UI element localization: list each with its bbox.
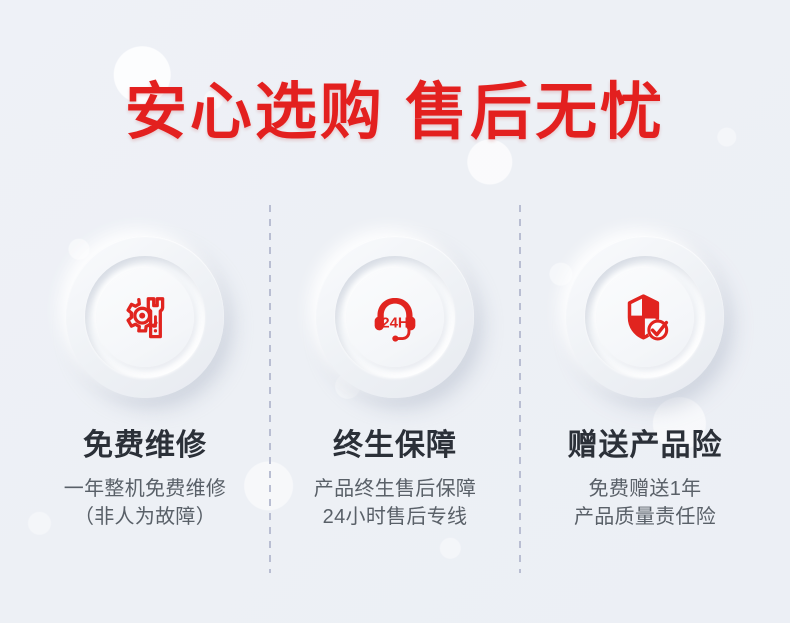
feature-description: 产品终生售后保障 24小时售后专线 bbox=[270, 475, 520, 532]
icon-badge-free-repair bbox=[66, 236, 224, 398]
feature-heading: 免费维修 bbox=[20, 429, 270, 462]
feature-description: 一年整机免费维修 （非人为故障） bbox=[20, 475, 270, 532]
badge-inner-ring bbox=[585, 256, 705, 378]
feature-line-2: 24小时售后专线 bbox=[270, 503, 520, 531]
badge-inner-ring: 24H bbox=[335, 256, 455, 378]
gear-wrench-icon bbox=[114, 287, 176, 349]
headset-24h-label: 24H bbox=[381, 314, 409, 331]
badge-inner-ring bbox=[85, 256, 205, 378]
promo-banner: 安心选购 售后无忧 bbox=[0, 0, 790, 623]
shield-check-icon bbox=[614, 287, 676, 349]
feature-card-product-insurance: 赠送产品险 免费赠送1年 产品质量责任险 bbox=[520, 236, 770, 532]
page-title: 安心选购 售后无忧 bbox=[0, 82, 790, 144]
feature-card-free-repair: 免费维修 一年整机免费维修 （非人为故障） bbox=[20, 236, 270, 532]
feature-line-2: （非人为故障） bbox=[20, 503, 270, 531]
feature-card-lifetime-support: 24H 终生保障 产品终生售后保障 24小时售后专线 bbox=[270, 236, 520, 532]
feature-description: 免费赠送1年 产品质量责任险 bbox=[520, 475, 770, 532]
feature-line-1: 产品终生售后保障 bbox=[270, 475, 520, 503]
icon-badge-lifetime-support: 24H bbox=[316, 236, 474, 398]
feature-line-1: 免费赠送1年 bbox=[520, 475, 770, 503]
icon-badge-product-insurance bbox=[566, 236, 724, 398]
badge-face: 24H bbox=[346, 268, 444, 367]
feature-line-1: 一年整机免费维修 bbox=[20, 475, 270, 503]
feature-line-2: 产品质量责任险 bbox=[520, 503, 770, 531]
feature-heading: 赠送产品险 bbox=[520, 429, 770, 462]
feature-heading: 终生保障 bbox=[270, 429, 520, 462]
headset-24h-icon: 24H bbox=[364, 287, 426, 349]
badge-face bbox=[596, 268, 694, 367]
badge-face bbox=[96, 268, 194, 367]
